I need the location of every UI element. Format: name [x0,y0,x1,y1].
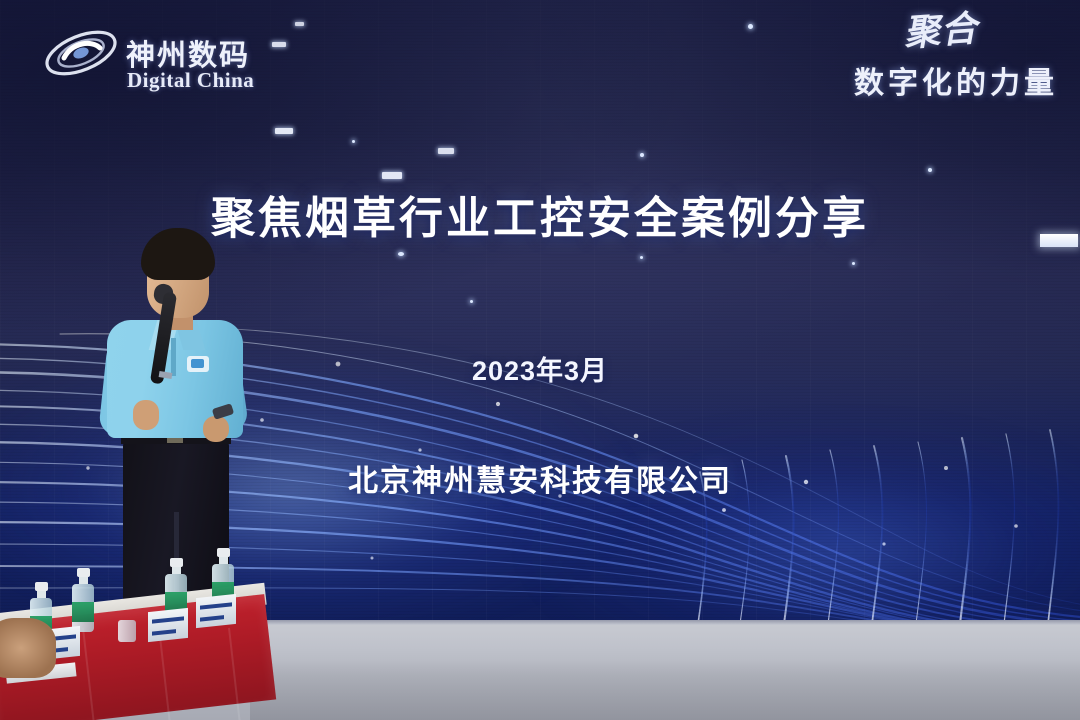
particle-dot [640,153,644,157]
presenter-shirt-logo-badge [187,356,209,372]
table-name-card [148,608,188,642]
slogan-calligraphy: 聚合 [757,10,979,61]
bottle-neck [79,577,88,584]
digital-china-logo: 神州数码 Digital China [42,14,302,94]
logo-english-text: Digital China [127,68,254,93]
presenter-hand-holding-mic [133,400,159,430]
digital-china-swoosh-logo-icon [42,22,120,84]
table-name-card [196,594,236,628]
bottle-neck [219,557,228,564]
presenter-hair [141,228,215,280]
particle-dot [852,262,855,265]
presenter-shirt-placket [171,338,176,376]
presentation-photo: 神州数码 Digital China 聚合 数字化的力量 聚焦烟草行业工控安全案… [0,0,1080,720]
slogan-subtitle: 数字化的力量 [758,58,1058,102]
bottle-body [72,584,94,632]
bottle-label [72,602,94,622]
particle-dot [470,300,473,303]
event-slogan: 聚合 数字化的力量 [758,18,1058,102]
particle-dash [382,172,402,179]
water-bottle [72,568,94,632]
screen-edge-light [1040,234,1078,247]
presenter-hand-holding-clicker [203,416,229,442]
bottle-neck [37,591,46,598]
bottle-cap [77,568,90,577]
particle-dot [398,252,404,256]
particle-dot [352,140,355,143]
particle-dash [275,128,293,134]
drinking-glass [118,620,136,642]
foreground-attendee [0,618,56,678]
particle-dash [438,148,454,154]
particle-dot [640,256,643,259]
particle-dot [748,24,753,29]
particle-dot [928,168,932,172]
floor-shadow [250,660,1080,720]
bottle-cap [35,582,48,591]
bottle-cap [170,558,183,567]
bottle-cap [217,548,230,557]
bottle-neck [172,567,181,574]
